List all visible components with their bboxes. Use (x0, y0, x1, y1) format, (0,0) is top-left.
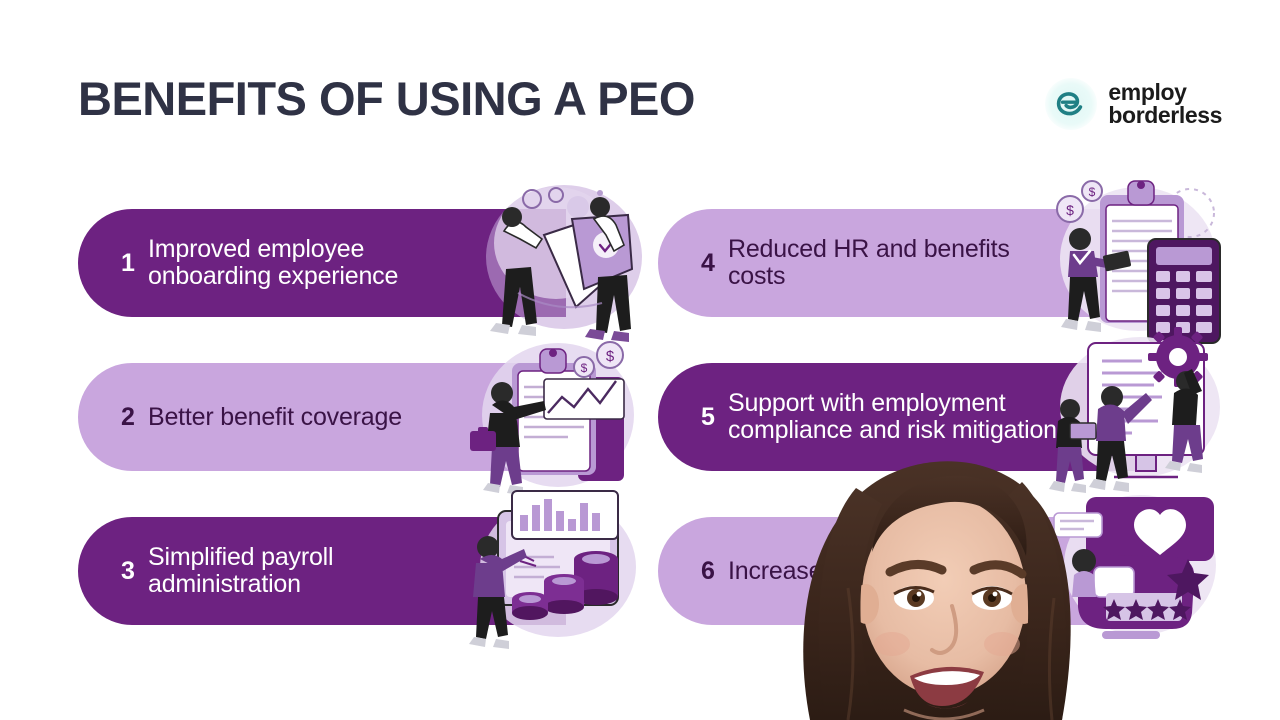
benefit-number-3: 3 (108, 557, 148, 586)
benefit-text-2: Better benefit coverage (148, 404, 402, 431)
two-people-with-envelope-illustration (460, 173, 648, 349)
benefit-item-5[interactable]: 5 Support with employment compliance and… (658, 363, 1206, 471)
benefit-item-6[interactable]: 6 Increased satisfactio (658, 517, 1206, 625)
benefit-item-2[interactable]: 2 Better benefit coverage (78, 363, 626, 471)
benefit-text-3: Simplified payroll administration (148, 544, 478, 598)
benefit-number-4: 4 (688, 249, 728, 278)
svg-text:$: $ (1089, 185, 1096, 199)
slide-root: BENEFITS OF USING A PEO employ borderles… (0, 0, 1280, 720)
benefit-text-6: Increased satisfactio (728, 558, 952, 585)
benefit-number-1: 1 (108, 249, 148, 278)
svg-text:$: $ (606, 348, 615, 365)
benefit-number-6: 6 (688, 557, 728, 586)
benefit-text-1: Improved employee onboarding experience (148, 236, 478, 290)
benefits-grid: 1 Improved employee onboarding experienc… (0, 0, 1280, 720)
benefit-item-3[interactable]: 3 Simplified payroll administration (78, 517, 626, 625)
benefit-item-4[interactable]: 4 Reduced HR and benefits costs $ (658, 209, 1206, 317)
heart-speech-bubble-with-star-ratings-illustration (1040, 481, 1228, 657)
person-with-bar-chart-screen-and-coin-stacks-illustration (460, 481, 648, 657)
benefit-number-5: 5 (688, 403, 728, 432)
three-people-monitor-document-gear-illustration (1040, 327, 1228, 503)
svg-text:$: $ (581, 361, 588, 375)
benefit-text-5: Support with employment compliance and r… (728, 390, 1058, 444)
benefit-item-1[interactable]: 1 Improved employee onboarding experienc… (78, 209, 626, 317)
benefit-number-2: 2 (108, 403, 148, 432)
svg-text:$: $ (1066, 202, 1074, 218)
person-with-clipboard-and-calculator-illustration: $ $ (1040, 173, 1228, 349)
person-presenting-chart-clipboard-coins-illustration: $ $ (460, 327, 648, 503)
benefit-text-4: Reduced HR and benefits costs (728, 236, 1058, 290)
